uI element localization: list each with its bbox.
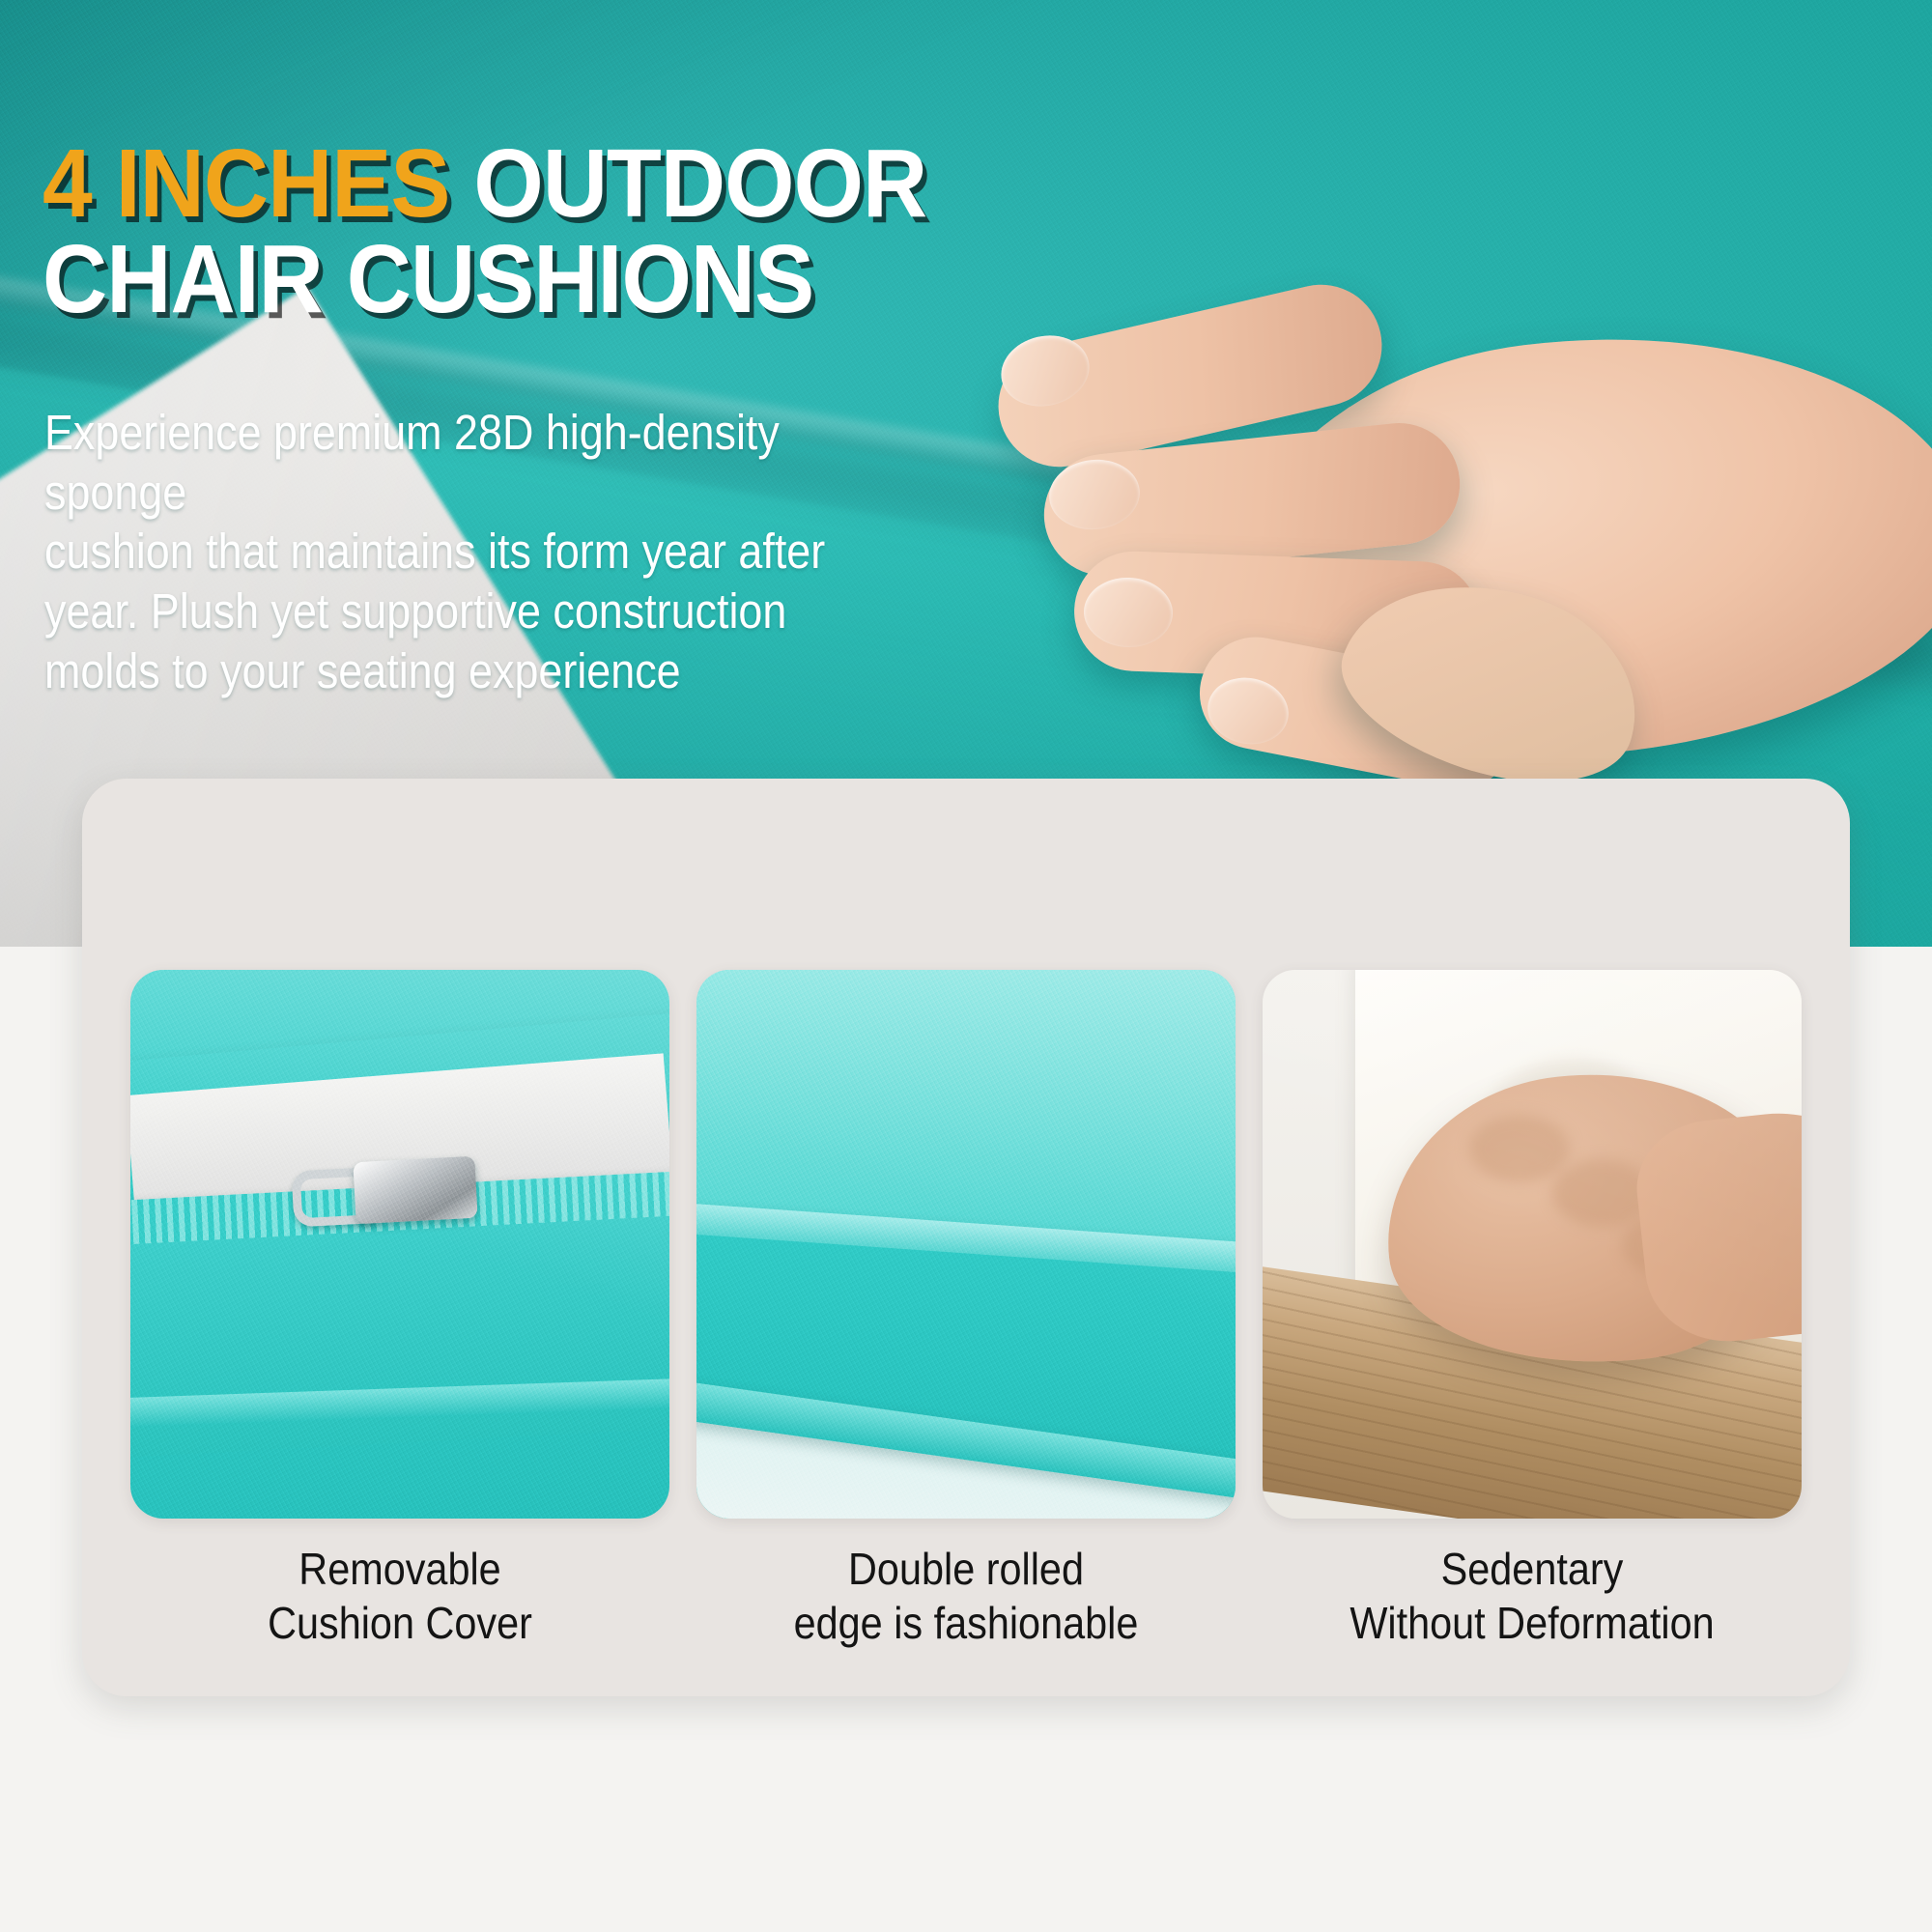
hero-description: Experience premium 28D high-density spon… bbox=[44, 403, 928, 701]
feature-caption-no-deformation: Sedentary Without Deformation bbox=[1290, 1542, 1775, 1650]
product-infographic: 4 INCHES OUTDOOR CHAIR CUSHIONS Experien… bbox=[0, 0, 1932, 1932]
feature-captions: Removable Cushion Cover Double rolled ed… bbox=[130, 1542, 1802, 1650]
zipper-slider-icon bbox=[353, 1156, 477, 1225]
page-title: 4 INCHES OUTDOOR CHAIR CUSHIONS bbox=[43, 136, 1102, 327]
knuckle bbox=[1469, 1115, 1570, 1182]
feature-caption-rolled-edge: Double rolled edge is fashionable bbox=[724, 1542, 1208, 1650]
headline-accent: 4 INCHES bbox=[43, 129, 450, 238]
features-card: Removable Cushion Cover Double rolled ed… bbox=[82, 779, 1850, 1696]
feature-caption-removable-cover: Removable Cushion Cover bbox=[157, 1542, 642, 1650]
feature-image-zipper bbox=[130, 970, 669, 1519]
feature-panels bbox=[130, 970, 1802, 1519]
feature-image-foam-squeeze bbox=[1263, 970, 1802, 1519]
feature-image-rolled-edge bbox=[696, 970, 1236, 1519]
